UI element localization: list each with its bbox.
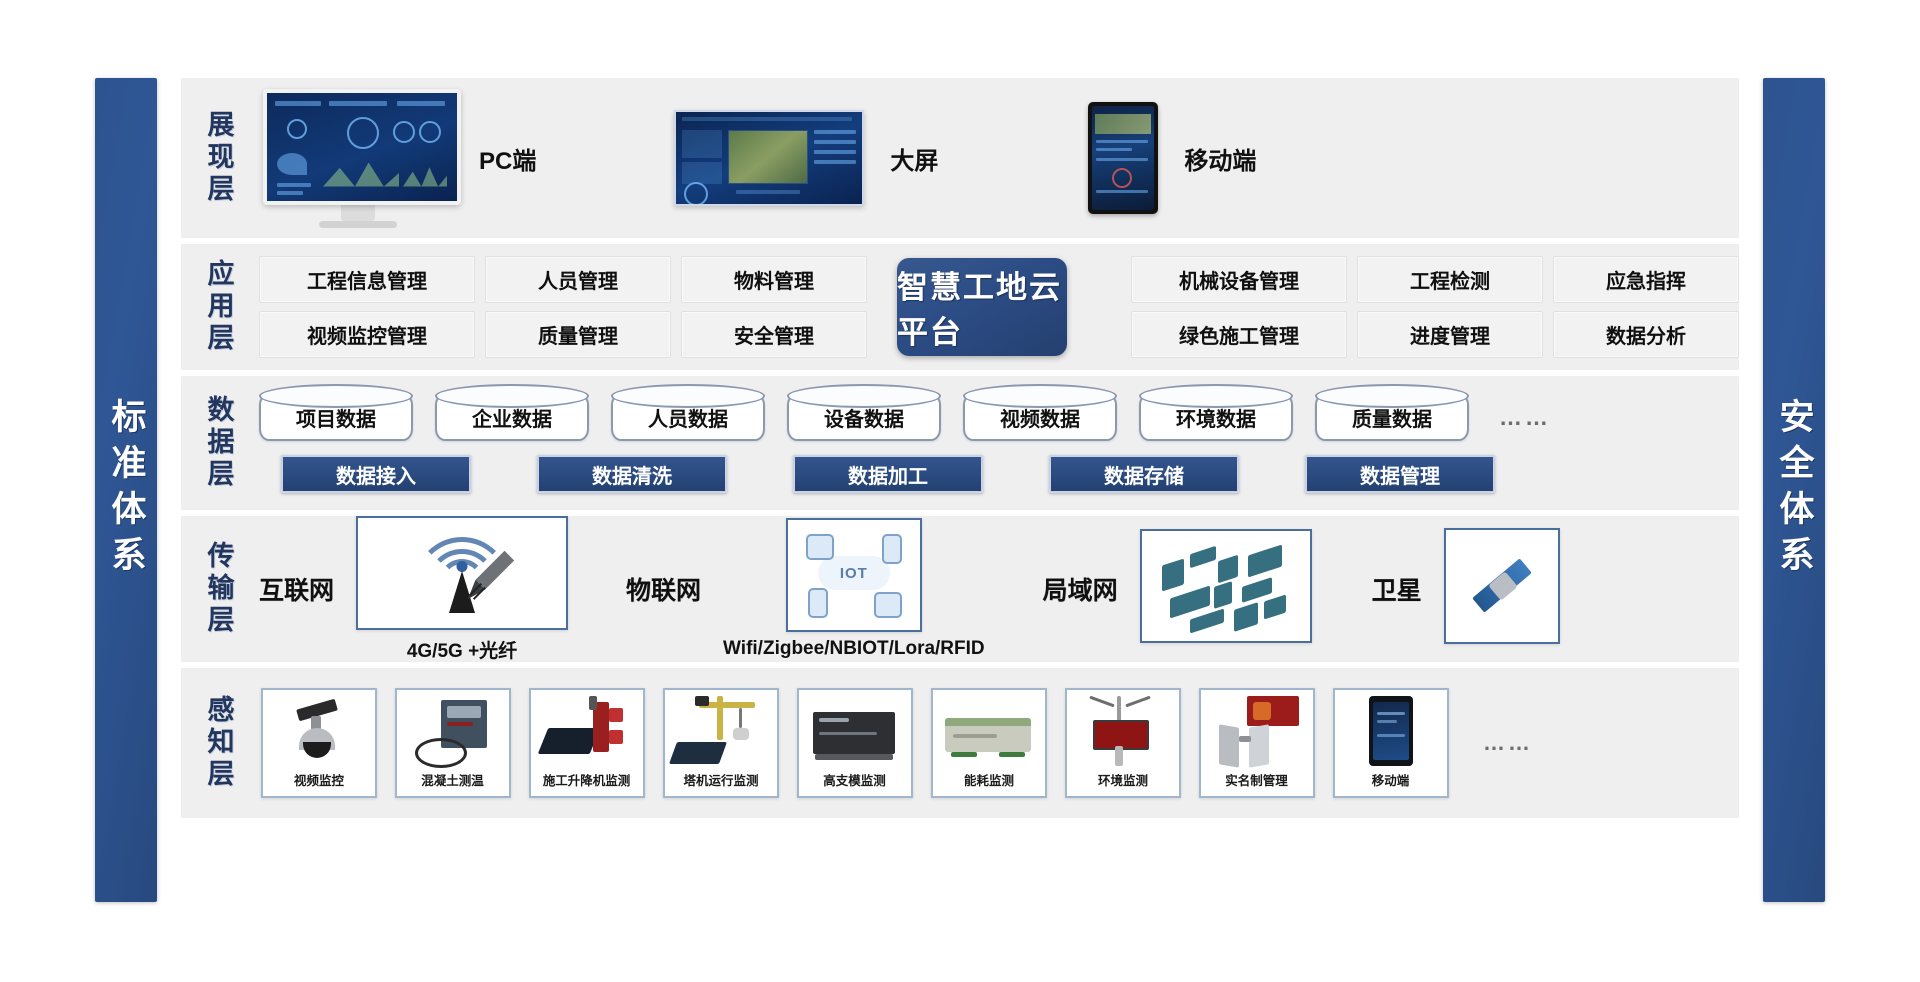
transmission-group-iot[interactable]: 物联网 IOT Wifi/Zigbee/NBIOT/Lora/RFID: [626, 518, 985, 660]
app-button-data-analysis[interactable]: 数据分析: [1553, 311, 1739, 358]
app-button-engineering-info[interactable]: 工程信息管理: [259, 256, 475, 303]
app-button-machinery[interactable]: 机械设备管理: [1131, 256, 1347, 303]
real-name-gate-icon: [1201, 690, 1313, 770]
data-cylinder-environment[interactable]: 环境数据: [1139, 393, 1293, 441]
cloud-platform-core[interactable]: 智慧工地云平台: [897, 258, 1067, 356]
application-content: 工程信息管理 人员管理 物料管理 视频监控管理 质量管理 安全管理 智慧工地云平…: [255, 244, 1739, 370]
right-gap: [1739, 78, 1763, 902]
perception-card-energy-monitor[interactable]: 能耗监测: [931, 688, 1047, 798]
perception-card-hoist-monitor[interactable]: 施工升降机监测: [529, 688, 645, 798]
presentation-item-bigscreen-label: 大屏: [890, 141, 938, 176]
desktop-monitor-icon: [263, 89, 453, 228]
layer-application-label-wrap: 应用层: [181, 244, 255, 370]
app-button-engineering-test[interactable]: 工程检测: [1357, 256, 1543, 303]
data-cylinder-quality-label: 质量数据: [1352, 403, 1432, 432]
layer-application-label: 应用层: [205, 259, 232, 355]
transmission-lan-label: 局域网: [1043, 571, 1118, 607]
application-row-left-1: 工程信息管理 人员管理 物料管理: [259, 256, 867, 303]
sidebar-standards-system: 标准体系: [95, 78, 157, 902]
perception-card-mobile-terminal-label: 移动端: [1372, 770, 1409, 788]
layer-transmission-label-wrap: 传输层: [181, 516, 255, 662]
data-cylinder-equipment-label: 设备数据: [824, 403, 904, 432]
transmission-satellite-box-wrap: [1444, 528, 1560, 650]
data-process-storage[interactable]: 数据存储: [1049, 455, 1239, 493]
tower-crane-monitor-icon: [665, 690, 777, 770]
large-display-screen-icon: [674, 110, 864, 206]
layer-data: 数据层 项目数据 企业数据 人员数据 设备数据 视频数据 环境数据 质量数据 ……: [181, 376, 1739, 510]
transmission-internet-box-wrap: 4G/5G +光纤: [356, 516, 568, 663]
layer-perception-label-wrap: 感知层: [181, 668, 255, 818]
data-cylinder-quality[interactable]: 质量数据: [1315, 393, 1469, 441]
perception-card-high-formwork[interactable]: 高支模监测: [797, 688, 913, 798]
layer-transmission: 传输层 互联网: [181, 516, 1739, 662]
layer-stack: 展现层: [181, 78, 1739, 902]
transmission-iot-box-wrap: IOT Wifi/Zigbee/NBIOT/Lora/RFID: [723, 518, 985, 660]
layer-data-label-wrap: 数据层: [181, 376, 255, 510]
presentation-item-pc[interactable]: PC端: [263, 89, 536, 228]
energy-consumption-monitor-icon: [933, 690, 1045, 770]
data-cylinder-enterprise-label: 企业数据: [472, 403, 552, 432]
perception-card-tower-crane-label: 塔机运行监测: [684, 770, 759, 788]
concrete-temperature-meter-icon: [397, 690, 509, 770]
construction-hoist-monitor-icon: [531, 690, 643, 770]
layer-presentation: 展现层: [181, 78, 1739, 238]
data-cylinder-project[interactable]: 项目数据: [259, 393, 413, 441]
environment-monitor-station-icon: [1067, 690, 1179, 770]
transmission-internet-caption: 4G/5G +光纤: [407, 636, 517, 663]
layer-perception: 感知层 视频监控: [181, 668, 1739, 818]
application-row-right-1: 机械设备管理 工程检测 应急指挥: [1131, 256, 1739, 303]
layer-data-label: 数据层: [205, 395, 232, 491]
data-cylinder-row: 项目数据 企业数据 人员数据 设备数据 视频数据 环境数据 质量数据 ……: [255, 393, 1739, 441]
app-button-material[interactable]: 物料管理: [681, 256, 867, 303]
transmission-group-internet[interactable]: 互联网: [259, 516, 568, 663]
signal-tower-fiber-icon: [356, 516, 568, 630]
high-formwork-monitor-icon: [799, 690, 911, 770]
layer-presentation-label-wrap: 展现层: [181, 78, 255, 238]
sidebar-security-system: 安全体系: [1763, 78, 1825, 902]
presentation-item-mobile[interactable]: 移动端: [1088, 102, 1256, 214]
layer-application: 应用层 工程信息管理 人员管理 物料管理 视频监控管理 质量管理 安全管理 智慧…: [181, 244, 1739, 370]
perception-card-real-name[interactable]: 实名制管理: [1199, 688, 1315, 798]
app-button-progress[interactable]: 进度管理: [1357, 311, 1543, 358]
lan-devices-icon: [1140, 529, 1312, 643]
transmission-satellite-label: 卫星: [1372, 571, 1422, 607]
perception-card-concrete-temp[interactable]: 混凝土测温: [395, 688, 511, 798]
application-row-right-2: 绿色施工管理 进度管理 数据分析: [1131, 311, 1739, 358]
perception-ellipsis: ……: [1483, 730, 1533, 756]
perception-card-environment-monitor-label: 环境监测: [1098, 770, 1148, 788]
data-cylinder-project-label: 项目数据: [296, 403, 376, 432]
transmission-group-satellite[interactable]: 卫星: [1372, 528, 1560, 650]
perception-card-real-name-label: 实名制管理: [1226, 770, 1288, 788]
data-cylinder-enterprise[interactable]: 企业数据: [435, 393, 589, 441]
data-cylinder-equipment[interactable]: 设备数据: [787, 393, 941, 441]
perception-card-environment-monitor[interactable]: 环境监测: [1065, 688, 1181, 798]
perception-card-video-surveillance-label: 视频监控: [294, 770, 344, 788]
data-process-manage[interactable]: 数据管理: [1305, 455, 1495, 493]
transmission-group-lan[interactable]: 局域网: [1043, 529, 1312, 649]
app-button-safety[interactable]: 安全管理: [681, 311, 867, 358]
perception-devices: 视频监控 混凝土测温: [255, 668, 1739, 818]
data-process-row: 数据接入 数据清洗 数据加工 数据存储 数据管理: [255, 455, 1739, 493]
data-cylinder-personnel[interactable]: 人员数据: [611, 393, 765, 441]
perception-card-tower-crane[interactable]: 塔机运行监测: [663, 688, 779, 798]
transmission-lan-box-wrap: [1140, 529, 1312, 649]
architecture-diagram: 标准体系 展现层: [0, 0, 1920, 982]
transmission-internet-label: 互联网: [259, 571, 334, 607]
application-row-left-2: 视频监控管理 质量管理 安全管理: [259, 311, 867, 358]
sidebar-security-label: 安全体系: [1777, 398, 1812, 582]
app-button-video-surveillance[interactable]: 视频监控管理: [259, 311, 475, 358]
ptz-camera-icon: [263, 690, 375, 770]
data-cylinder-video[interactable]: 视频数据: [963, 393, 1117, 441]
data-cylinder-video-label: 视频数据: [1000, 403, 1080, 432]
left-gap: [157, 78, 181, 902]
data-process-transform[interactable]: 数据加工: [793, 455, 983, 493]
presentation-item-bigscreen[interactable]: 大屏: [674, 110, 938, 206]
presentation-item-mobile-label: 移动端: [1184, 141, 1256, 176]
layer-presentation-label: 展现层: [205, 110, 232, 206]
sidebar-standards-label: 标准体系: [109, 398, 144, 582]
tablet-mobile-icon: [1088, 102, 1158, 214]
app-button-emergency-command[interactable]: 应急指挥: [1553, 256, 1739, 303]
data-cylinder-personnel-label: 人员数据: [648, 403, 728, 432]
transmission-content: 互联网: [255, 516, 1739, 662]
data-cylinder-ellipsis: ……: [1499, 404, 1551, 431]
app-button-green-construction[interactable]: 绿色施工管理: [1131, 311, 1347, 358]
perception-card-mobile-terminal[interactable]: 移动端: [1333, 688, 1449, 798]
application-buttons-left: 工程信息管理 人员管理 物料管理 视频监控管理 质量管理 安全管理: [259, 256, 867, 358]
perception-card-high-formwork-label: 高支模监测: [824, 770, 886, 788]
app-button-quality[interactable]: 质量管理: [485, 311, 671, 358]
iot-cloud-icon: IOT: [786, 518, 922, 632]
presentation-item-pc-label: PC端: [479, 141, 536, 176]
data-content: 项目数据 企业数据 人员数据 设备数据 视频数据 环境数据 质量数据 …… 数据…: [255, 376, 1739, 510]
perception-card-hoist-monitor-label: 施工升降机监测: [543, 770, 630, 788]
mobile-terminal-icon: [1335, 690, 1447, 770]
fiber-optic-icon: [462, 545, 520, 603]
application-buttons-right: 机械设备管理 工程检测 应急指挥 绿色施工管理 进度管理 数据分析: [1131, 256, 1739, 358]
satellite-icon: [1444, 528, 1560, 644]
transmission-iot-label: 物联网: [626, 571, 701, 607]
layer-transmission-label: 传输层: [205, 541, 232, 637]
transmission-iot-caption: Wifi/Zigbee/NBIOT/Lora/RFID: [723, 638, 985, 660]
layer-perception-label: 感知层: [205, 695, 232, 791]
perception-card-concrete-temp-label: 混凝土测温: [422, 770, 484, 788]
data-cylinder-environment-label: 环境数据: [1176, 403, 1256, 432]
presentation-items: PC端 大屏: [255, 78, 1739, 238]
data-process-clean[interactable]: 数据清洗: [537, 455, 727, 493]
data-process-ingest[interactable]: 数据接入: [281, 455, 471, 493]
perception-card-energy-monitor-label: 能耗监测: [964, 770, 1014, 788]
perception-card-video-surveillance[interactable]: 视频监控: [261, 688, 377, 798]
app-button-personnel[interactable]: 人员管理: [485, 256, 671, 303]
